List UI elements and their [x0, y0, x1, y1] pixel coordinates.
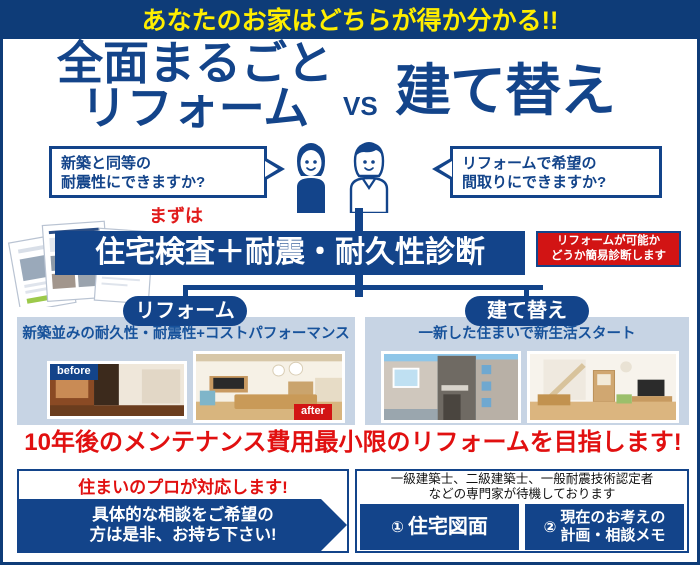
title-left-line2: リフォーム [45, 86, 345, 131]
bring-item-1[interactable]: ① 住宅図面 [359, 503, 520, 551]
man-illustration [351, 142, 387, 213]
bottom-left-cta-line2: 方は是非、お持ち下さい! [90, 525, 277, 545]
bottom-right-items: ① 住宅図面 ② 現在のお考えの 計画・相談メモ [357, 503, 687, 551]
bottom-left-heading: 住まいのプロが対応します! [19, 471, 347, 499]
bottom-left-block: 住まいのプロが対応します! 具体的な相談をご希望の 方は是非、お持ち下さい! [17, 469, 349, 553]
header-banner: あなたのお家はどちらが得か分かる!! [3, 3, 697, 39]
photo-new-house-exterior [381, 351, 521, 423]
bottom-left-cta-line1: 具体的な相談をご希望の [92, 505, 274, 525]
title-vs: VS [343, 91, 378, 122]
people-illustration [285, 131, 435, 213]
photo-tag-after: after [294, 404, 332, 420]
bottom-right-block: 一級建築士、二級建築士、一般耐震技術認定者 などの専門家が待機しております ① … [355, 469, 689, 553]
diagnosis-note-line1: リフォームが可能か [557, 234, 660, 249]
red-headline: 10年後のメンテナンス費用最小限のリフォームを目指します! [3, 431, 700, 455]
pill-rebuild-label: 建て替え [487, 301, 567, 321]
speech-bubble-left: 新築と同等の 耐震性にできますか? [49, 146, 267, 198]
speech-bubble-right: リフォームで希望の 間取りにできますか? [450, 146, 662, 198]
bottom-right-note: 一級建築士、二級建築士、一般耐震技術認定者 などの専門家が待機しております [357, 471, 687, 501]
speech-tail-right-inner-icon [439, 161, 452, 177]
title-zone: 全面まるごと リフォーム VS 建て替え [3, 39, 700, 139]
speech-bubble-left-line1: 新築と同等の [61, 155, 255, 174]
header-banner-text: あなたのお家はどちらが得か分かる!! [142, 9, 559, 34]
photo-new-house-interior [527, 351, 679, 423]
bottom-left-cta[interactable]: 具体的な相談をご希望の 方は是非、お持ち下さい! [19, 499, 347, 551]
bring-item-1-label: 住宅図面 [408, 517, 488, 537]
bottom-right-note-line2: などの専門家が待機しております [429, 487, 616, 502]
pill-reform: リフォーム [123, 296, 247, 326]
panel-rebuild-caption: 一新した住まいで新生活スタート [365, 327, 689, 342]
speech-bubble-right-line1: リフォームで希望の [462, 155, 650, 174]
poster-root: あなたのお家はどちらが得か分かる!! 全面まるごと リフォーム VS 建て替え [0, 0, 700, 565]
bring-item-1-number: ① [391, 518, 404, 536]
panel-reform-caption: 新築並みの耐久性・耐震性+コストパフォーマンス [17, 327, 355, 342]
title-left: 全面まるごと リフォーム [45, 41, 345, 130]
diagnosis-bar-text: 住宅検査＋耐震・耐久性診断 [95, 238, 485, 268]
bring-item-2-number: ② [544, 518, 557, 536]
diagnosis-note-line2: どうか簡易診断します [551, 249, 666, 264]
speech-bubble-left-line2: 耐震性にできますか? [61, 174, 255, 193]
diagnosis-note-badge: リフォームが可能か どうか簡易診断します [536, 231, 681, 267]
bring-item-2-label: 現在のお考えの 計画・相談メモ [560, 509, 665, 545]
speech-tail-left-inner-icon [265, 161, 278, 177]
woman-illustration [297, 143, 325, 213]
bring-item-2[interactable]: ② 現在のお考えの 計画・相談メモ [524, 503, 685, 551]
bring-item-2-label-line2: 計画・相談メモ [560, 527, 665, 545]
title-right: 建て替え [395, 63, 615, 119]
speech-bubble-right-line2: 間取りにできますか? [462, 174, 650, 193]
diagnosis-bar: 住宅検査＋耐震・耐久性診断 [55, 231, 525, 275]
pill-rebuild: 建て替え [465, 296, 589, 326]
pill-reform-label: リフォーム [135, 301, 234, 321]
diagnosis-kicker: まずは [149, 207, 203, 225]
bottom-right-note-line1: 一級建築士、二級建築士、一般耐震技術認定者 [391, 472, 654, 487]
photo-tag-before: before [50, 364, 98, 380]
arrow-right-icon [321, 499, 347, 551]
connector-horizontal [183, 285, 543, 290]
bring-item-2-label-line1: 現在のお考えの [560, 509, 665, 527]
